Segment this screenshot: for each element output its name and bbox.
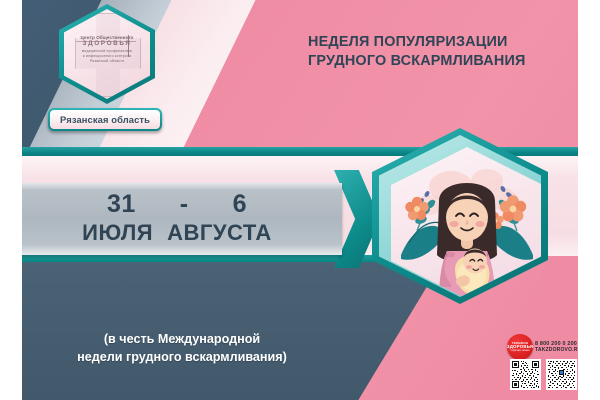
subtitle: (в честь Международной недели грудного в… (46, 330, 318, 367)
subtitle-line-2: недели грудного вскармливания) (46, 348, 318, 366)
date-day-start: 31 (107, 192, 136, 217)
date-banner: 31 - 6 ИЮЛЯ АВГУСТА (22, 183, 342, 255)
hotline-badge: ТЕЛЕФОН ЗДОРОВЬЯ горячая линия 8 800 200… (507, 334, 578, 360)
subtitle-line-1: (в честь Международной (46, 330, 318, 348)
date-separator: - (180, 192, 189, 217)
qr-code-group (510, 359, 577, 390)
logo-line-3: медицинской профилактики (71, 49, 143, 53)
logo-hexagon-inner: Центр Общественного ЗДОРОВЬЯ медицинской… (64, 9, 150, 99)
page-title-line-2: ГРУДНОГО ВСКАРМЛИВАНИЯ (308, 52, 570, 71)
region-badge[interactable]: Рязанская область (48, 108, 162, 131)
hotline-seal-line-3: горячая линия (510, 349, 529, 352)
qr-code-right[interactable] (546, 359, 577, 390)
logo-line-2: ЗДОРОВЬЯ (71, 40, 143, 47)
hotline-website: TAKZDOROVO.RU (535, 347, 578, 353)
date-month-start: ИЮЛЯ (82, 220, 153, 245)
illustration-frame-inner (379, 135, 541, 297)
page-title: НЕДЕЛЯ ПОПУЛЯРИЗАЦИИ ГРУДНОГО ВСКАРМЛИВА… (308, 33, 570, 72)
qr-code-left-image (511, 360, 540, 389)
hotline-text: 8 800 200 0 200 TAKZDOROVO.RU (535, 341, 578, 354)
logo-line-5: Рязанской области (71, 59, 143, 63)
date-banner-days: 31 - 6 (107, 192, 247, 217)
hotline-seal-icon: ТЕЛЕФОН ЗДОРОВЬЯ горячая линия (507, 334, 533, 360)
qr-code-right-image (547, 360, 576, 389)
qr-code-left[interactable] (510, 359, 541, 390)
logo-text: Центр Общественного ЗДОРОВЬЯ медицинской… (71, 35, 143, 63)
logo-line-4: и инфекционного контроля (71, 54, 143, 58)
page-title-line-1: НЕДЕЛЯ ПОПУЛЯРИЗАЦИИ (308, 33, 570, 52)
date-day-end: 6 (233, 192, 247, 217)
hotline-phone: 8 800 200 0 200 (535, 341, 578, 348)
poster-canvas: НЕДЕЛЯ ПОПУЛЯРИЗАЦИИ ГРУДНОГО ВСКАРМЛИВА… (22, 0, 578, 400)
date-banner-months: ИЮЛЯ АВГУСТА (82, 220, 272, 245)
date-month-end: АВГУСТА (167, 220, 272, 245)
region-badge-label: Рязанская область (50, 110, 160, 129)
